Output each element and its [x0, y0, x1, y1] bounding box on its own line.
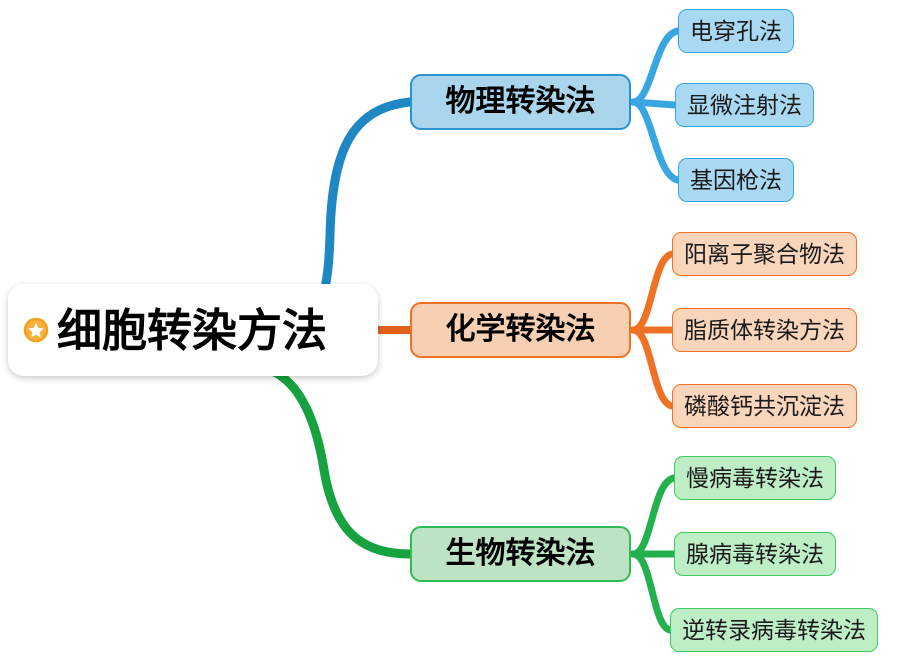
edge-physical-leaf-0	[633, 31, 678, 102]
leaf-node-chemical-0[interactable]: 阳离子聚合物法	[672, 232, 857, 276]
edge-physical-leaf-2	[633, 102, 678, 180]
leaf-node-biological-2[interactable]: 逆转录病毒转染法	[670, 608, 878, 652]
edge-physical-leaf-1	[633, 102, 675, 105]
leaf-node-chemical-1[interactable]: 脂质体转染方法	[672, 308, 857, 352]
root-node[interactable]: 细胞转染方法	[8, 284, 378, 376]
leaf-label-chemical-1: 脂质体转染方法	[684, 319, 845, 342]
branch-node-physical[interactable]: 物理转染法	[410, 74, 631, 130]
leaf-label-chemical-0: 阳离子聚合物法	[684, 243, 845, 266]
leaf-node-chemical-2[interactable]: 磷酸钙共沉淀法	[672, 384, 857, 428]
branch-node-biological[interactable]: 生物转染法	[410, 526, 631, 582]
edge-biological-leaf-2	[633, 554, 670, 630]
leaf-label-biological-1: 腺病毒转染法	[686, 543, 824, 566]
leaf-label-physical-2: 基因枪法	[690, 169, 782, 192]
mindmap-canvas: 细胞转染方法 物理转染法 电穿孔法 显微注射法 基因枪法 化学转染法 阳离子聚合…	[0, 0, 901, 660]
leaf-node-physical-0[interactable]: 电穿孔法	[678, 9, 794, 53]
branch-node-chemical[interactable]: 化学转染法	[410, 302, 631, 358]
edge-chemical-leaf-0	[633, 254, 672, 330]
edge-biological-leaf-0	[633, 478, 674, 554]
root-label: 细胞转染方法	[57, 308, 327, 353]
star-badge-icon	[22, 316, 50, 344]
branch-label-chemical: 化学转染法	[446, 315, 596, 345]
leaf-label-chemical-2: 磷酸钙共沉淀法	[684, 395, 845, 418]
branch-label-biological: 生物转染法	[446, 539, 596, 569]
leaf-label-physical-1: 显微注射法	[687, 94, 802, 117]
edge-root-biological	[270, 370, 410, 554]
leaf-node-physical-1[interactable]: 显微注射法	[675, 83, 814, 127]
leaf-node-biological-0[interactable]: 慢病毒转染法	[674, 456, 836, 500]
branch-label-physical: 物理转染法	[446, 87, 596, 117]
leaf-label-physical-0: 电穿孔法	[690, 20, 782, 43]
leaf-label-biological-2: 逆转录病毒转染法	[682, 619, 866, 642]
leaf-node-physical-2[interactable]: 基因枪法	[678, 158, 794, 202]
leaf-node-biological-1[interactable]: 腺病毒转染法	[674, 532, 836, 576]
leaf-label-biological-0: 慢病毒转染法	[686, 467, 824, 490]
edge-chemical-leaf-2	[633, 330, 672, 406]
